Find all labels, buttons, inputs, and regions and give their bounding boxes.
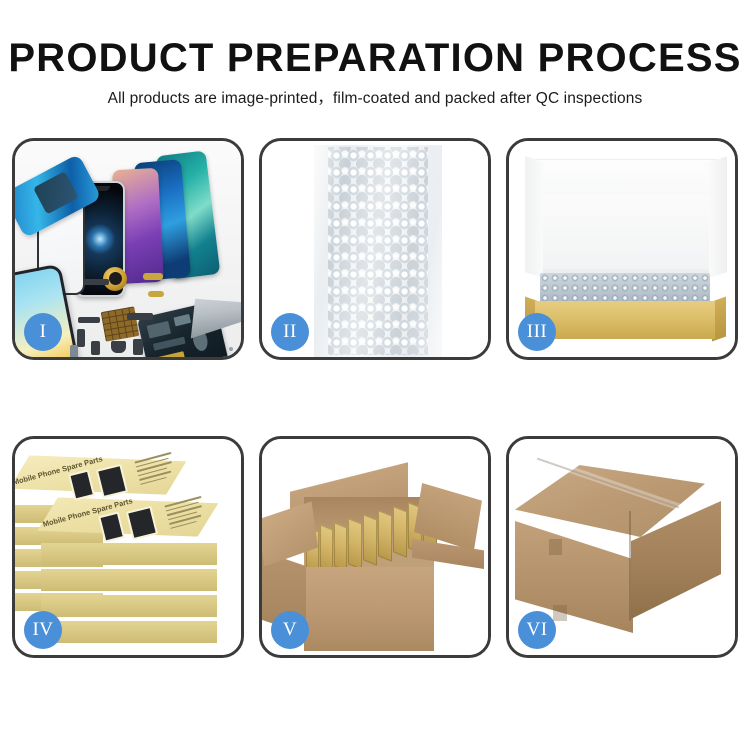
retail-box-stack-right-4: [41, 621, 217, 643]
box-tray-front: [535, 301, 715, 339]
step-panel-4: Mobile Phone Spare Parts Mobile Phone Sp…: [12, 436, 244, 658]
page-subtitle: All products are image-printed，film-coat…: [0, 86, 750, 108]
camera-module: [111, 341, 126, 353]
metal-bracket: [70, 345, 78, 357]
step-badge-3: III: [518, 313, 556, 351]
retail-box-stack-right-2: [41, 569, 217, 591]
flex-cable-1: [83, 279, 109, 285]
gold-box-5: [363, 514, 377, 566]
connector-2: [77, 329, 85, 347]
step-panel-6: VI: [506, 436, 738, 658]
foam-insert: [543, 195, 709, 269]
vibrator-module: [133, 339, 143, 355]
step-panel-1: I: [12, 138, 244, 360]
step-panel-3: III: [506, 138, 738, 360]
step-badge-2: II: [271, 313, 309, 351]
flex-cable-gold-2: [148, 291, 164, 297]
page-title: PRODUCT PREPARATION PROCESS: [0, 38, 750, 78]
step-badge-1: I: [24, 313, 62, 351]
gold-box-6: [378, 510, 392, 562]
step-badge-5: V: [271, 611, 309, 649]
step-panel-5: V: [259, 436, 491, 658]
steps-grid: I II III: [12, 138, 738, 683]
gold-box-3: [334, 522, 347, 571]
antenna-flex: [127, 313, 153, 320]
flex-cable-gold: [143, 273, 163, 280]
sim-tray: [91, 341, 100, 355]
pouch-sheen: [314, 145, 442, 357]
carton-front-panel: [304, 567, 434, 651]
gold-box-4: [348, 518, 362, 570]
step-badge-4: IV: [24, 611, 62, 649]
retail-box-stack-right-3: [41, 595, 217, 617]
carton-handle-cut-upper: [549, 539, 562, 555]
carton-handle-cut-lower: [553, 605, 567, 621]
product-preparation-infographic: PRODUCT PREPARATION PROCESS All products…: [0, 0, 750, 750]
connector-1: [78, 317, 100, 323]
retail-box-top: Mobile Phone Spare Parts: [15, 450, 188, 514]
carton-vertical-edge: [629, 511, 631, 621]
step-panel-2: II: [259, 138, 491, 360]
ic-chip-grid: [101, 306, 140, 341]
gold-box-7: [393, 506, 407, 558]
step-badge-6: VI: [518, 611, 556, 649]
